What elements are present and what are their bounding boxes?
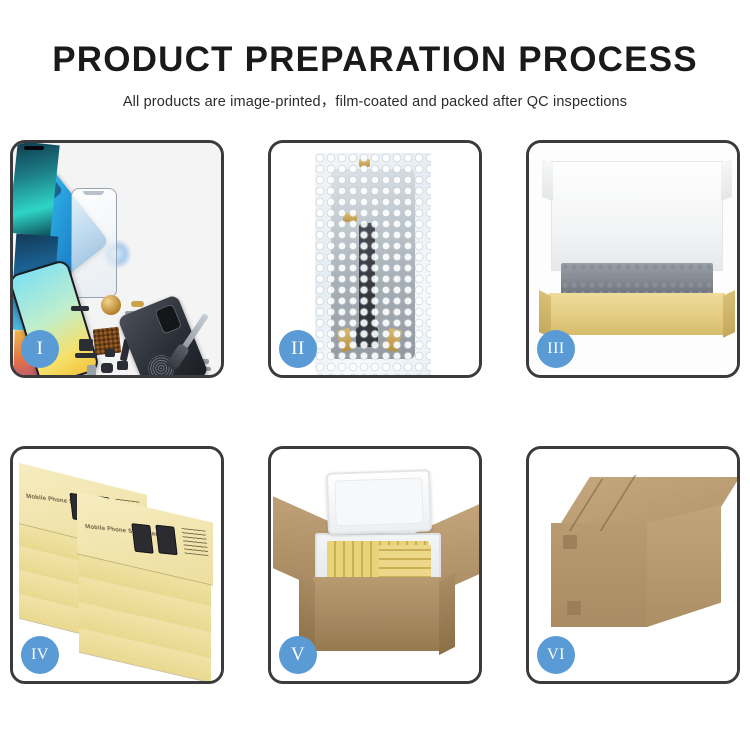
bubble-wrap-bag-icon xyxy=(315,153,431,375)
step-panel-3[interactable]: III xyxy=(526,140,740,378)
step-badge-6: VI xyxy=(537,636,575,674)
step-panel-6[interactable]: VI xyxy=(526,446,740,684)
spare-part-icon xyxy=(101,363,113,373)
spare-part-icon xyxy=(105,349,115,357)
spare-part-icon xyxy=(79,339,93,351)
foam-lid-icon xyxy=(326,469,432,535)
step-panel-1[interactable]: I xyxy=(10,140,224,378)
step-panel-5[interactable]: V xyxy=(268,446,482,684)
box-screen-image xyxy=(155,525,177,556)
step-badge-4: IV xyxy=(21,636,59,674)
spare-part-icon xyxy=(131,301,144,307)
tempered-glass-panel-icon xyxy=(71,188,117,298)
tape-patch-icon xyxy=(567,601,581,615)
step-badge-5: V xyxy=(279,636,317,674)
speaker-module-icon xyxy=(101,295,121,315)
bubble-texture-icon xyxy=(315,153,431,375)
foam-padding-icon xyxy=(561,263,713,297)
page-header: PRODUCT PREPARATION PROCESS All products… xyxy=(0,0,750,130)
spare-part-icon xyxy=(87,365,96,375)
step-badge-3: III xyxy=(537,330,575,368)
process-step-grid: I II III xyxy=(0,140,750,686)
carton-body-icon xyxy=(313,577,441,651)
step-badge-1: I xyxy=(21,330,59,368)
box-spec-lines xyxy=(182,528,209,556)
step-panel-4[interactable]: Mobile Phone Spare Parts Mobile Phone Sp… xyxy=(10,446,224,684)
spare-part-icon xyxy=(71,306,89,311)
kraft-box-front-icon xyxy=(549,293,725,335)
tape-patch-icon xyxy=(563,535,577,549)
page-title: PRODUCT PREPARATION PROCESS xyxy=(0,0,750,79)
white-box-lid-icon xyxy=(551,161,723,271)
step-panel-2[interactable]: II xyxy=(268,140,482,378)
box-screen-image xyxy=(131,523,153,554)
page-subtitle: All products are image-printed，film-coat… xyxy=(0,79,750,111)
spare-part-icon xyxy=(117,361,128,370)
spare-part-icon xyxy=(75,353,97,358)
camera-module-icon xyxy=(154,303,182,335)
step-badge-2: II xyxy=(279,330,317,368)
